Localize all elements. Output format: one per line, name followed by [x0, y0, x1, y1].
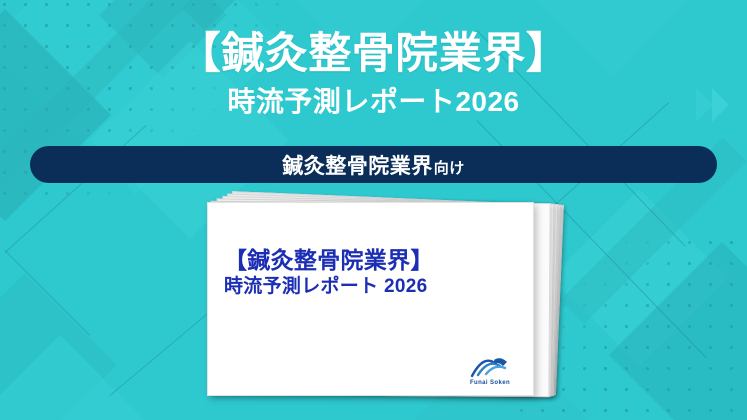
decorative-diamond — [609, 242, 747, 420]
funai-soken-logo: Funai Soken — [459, 355, 521, 386]
cover-title-sub: 時流予測レポート 2026 — [224, 274, 434, 300]
badge-label: 鍼灸整骨院業界向け — [282, 150, 465, 180]
report-banner: 【鍼灸整骨院業界】 時流予測レポート2026 鍼灸整骨院業界向け 【鍼灸整骨院業… — [0, 0, 747, 420]
banner-heading: 【鍼灸整骨院業界】 時流予測レポート2026 — [0, 30, 747, 121]
decorative-line — [5, 250, 91, 336]
cover-title-block: 【鍼灸整骨院業界】 時流予測レポート 2026 — [224, 247, 434, 300]
page-title: 【鍼灸整骨院業界】 — [0, 30, 747, 78]
report-cover: 【鍼灸整骨院業界】 時流予測レポート 2026 Funai Soken — [207, 202, 534, 396]
badge-label-main: 鍼灸整骨院業界 — [282, 150, 433, 180]
decorative-diamond — [0, 335, 145, 420]
decorative-diamond — [551, 189, 728, 366]
wave-mark-icon — [470, 355, 510, 379]
logo-wordmark: Funai Soken — [459, 380, 521, 386]
badge-label-suffix: 向け — [434, 157, 465, 178]
decorative-diamond — [0, 273, 117, 420]
decorative-line — [5, 125, 147, 253]
decorative-bar — [182, 0, 381, 31]
target-audience-badge: 鍼灸整骨院業界向け — [30, 146, 717, 183]
cover-title-main: 【鍼灸整骨院業界】 — [224, 247, 434, 274]
page-subtitle: 時流予測レポート2026 — [0, 84, 747, 120]
report-document-stack: 【鍼灸整骨院業界】 時流予測レポート 2026 Funai Soken — [198, 196, 568, 401]
